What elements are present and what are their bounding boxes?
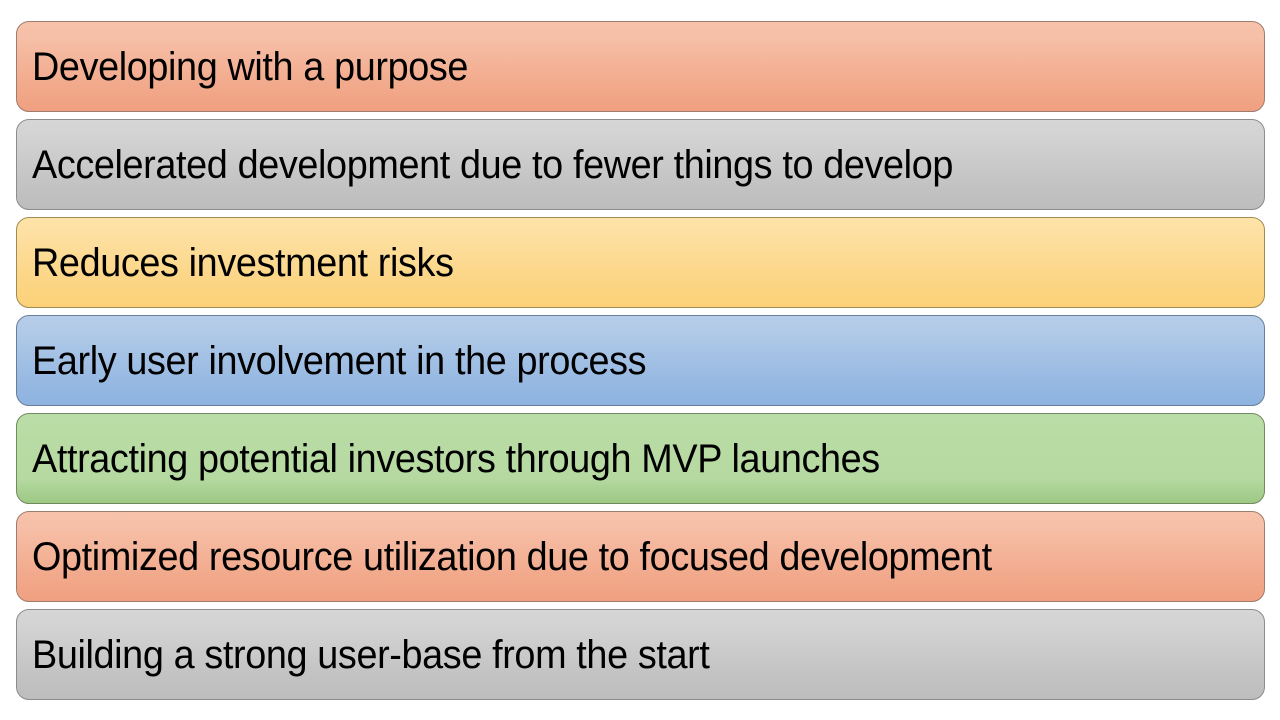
benefit-bar-list: Developing with a purposeAccelerated dev… xyxy=(16,21,1265,705)
benefit-bar-label: Attracting potential investors through M… xyxy=(32,437,880,481)
slide-canvas: Developing with a purposeAccelerated dev… xyxy=(0,0,1280,720)
benefit-bar[interactable]: Building a strong user-base from the sta… xyxy=(16,609,1265,700)
benefit-bar[interactable]: Reduces investment risks xyxy=(16,217,1265,308)
benefit-bar[interactable]: Developing with a purpose xyxy=(16,21,1265,112)
benefit-bar-label: Accelerated development due to fewer thi… xyxy=(32,143,953,187)
benefit-bar[interactable]: Optimized resource utilization due to fo… xyxy=(16,511,1265,602)
benefit-bar-label: Building a strong user-base from the sta… xyxy=(32,633,709,677)
benefit-bar[interactable]: Attracting potential investors through M… xyxy=(16,413,1265,504)
benefit-bar[interactable]: Accelerated development due to fewer thi… xyxy=(16,119,1265,210)
benefit-bar[interactable]: Early user involvement in the process xyxy=(16,315,1265,406)
benefit-bar-label: Developing with a purpose xyxy=(32,45,468,89)
benefit-bar-label: Reduces investment risks xyxy=(32,241,454,285)
benefit-bar-label: Optimized resource utilization due to fo… xyxy=(32,535,992,579)
benefit-bar-label: Early user involvement in the process xyxy=(32,339,646,383)
